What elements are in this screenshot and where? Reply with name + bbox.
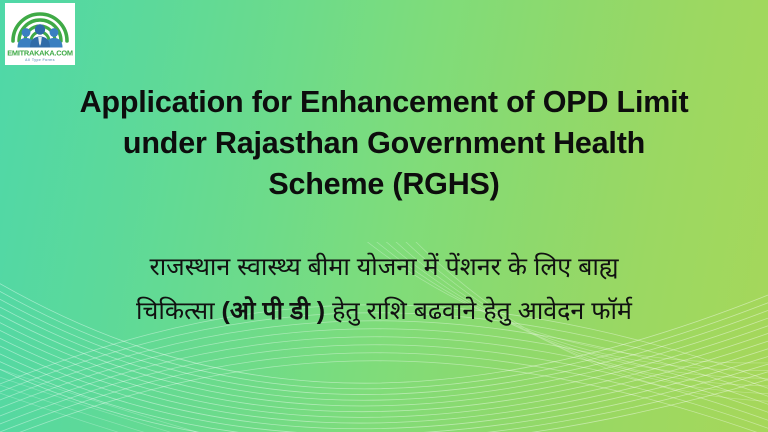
logo-brand-text: EMITRAKAKA.COM <box>7 48 73 57</box>
subtitle-line-2: चिकित्सा (ओ पी डी ) हेतु राशि बढवाने हेत… <box>24 289 744 333</box>
title-line-2: under Rajasthan Government Health <box>34 123 734 164</box>
page-subtitle-hindi: राजस्थान स्वास्थ्य बीमा योजना में पेंशनर… <box>24 245 744 333</box>
promo-banner: EMITRAKAKA.COM All Type Forms Applicatio… <box>0 0 768 432</box>
subtitle-line-2-before: चिकित्सा <box>136 297 222 325</box>
subtitle-line-1: राजस्थान स्वास्थ्य बीमा योजना में पेंशनर… <box>24 245 744 289</box>
subtitle-line-2-after: हेतु राशि बढवाने हेतु आवेदन फॉर्म <box>325 297 632 325</box>
page-title: Application for Enhancement of OPD Limit… <box>34 82 734 205</box>
site-logo[interactable]: EMITRAKAKA.COM All Type Forms <box>5 3 75 65</box>
subtitle-line-2-bold: (ओ पी डी ) <box>222 297 326 325</box>
logo-tagline: All Type Forms <box>25 58 55 62</box>
title-line-3: Scheme (RGHS) <box>34 164 734 205</box>
emitrakaka-logo-icon: EMITRAKAKA.COM All Type Forms <box>7 5 73 63</box>
title-line-1: Application for Enhancement of OPD Limit <box>34 82 734 123</box>
